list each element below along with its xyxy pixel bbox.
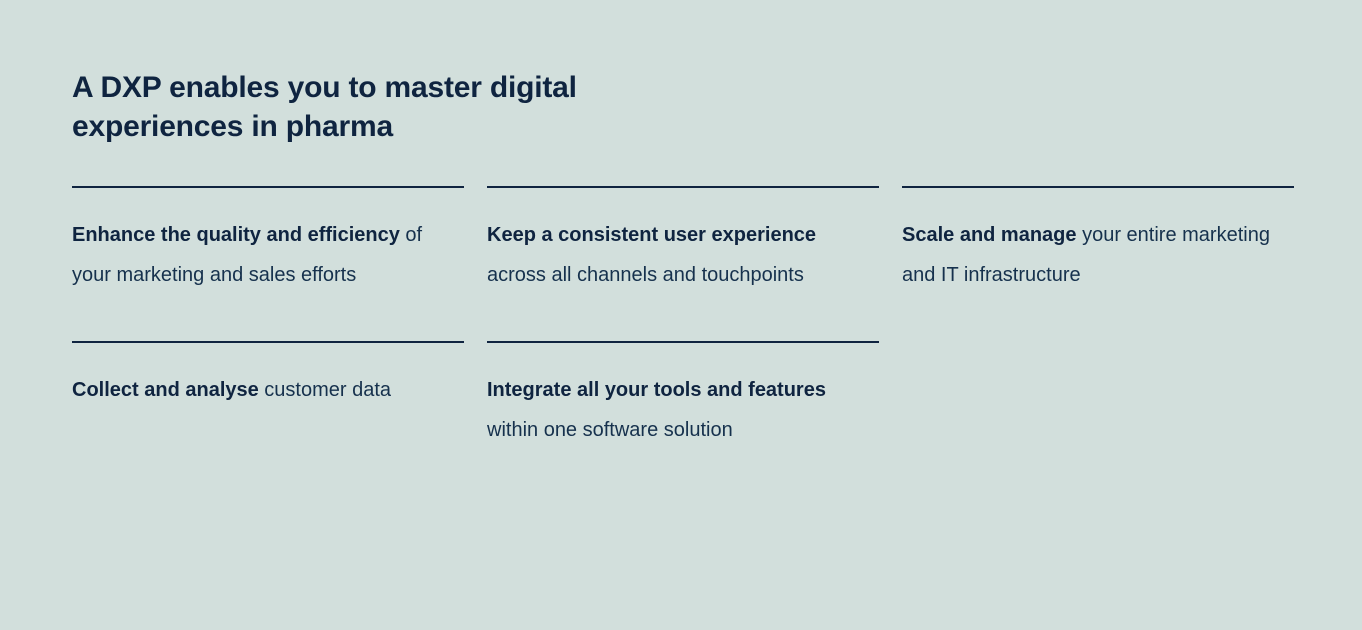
benefit-card-consistent-user-experience: Keep a consistent user experience across… <box>487 186 879 295</box>
benefit-lead: Keep a consistent user experience <box>487 224 816 246</box>
dxp-benefits-panel: A DXP enables you to master digital expe… <box>0 0 1362 630</box>
benefit-text: Collect and analyse customer data <box>72 343 464 410</box>
benefit-text <box>902 343 1294 370</box>
benefit-lead: Scale and manage <box>902 224 1077 246</box>
benefit-card-scale-and-manage: Scale and manage your entire marketing a… <box>902 186 1294 295</box>
benefit-text: Enhance the quality and efficiency of yo… <box>72 188 464 295</box>
benefit-lead: Enhance the quality and efficiency <box>72 224 400 246</box>
benefit-card-collect-and-analyse: Collect and analyse customer data <box>72 341 464 450</box>
benefit-lead: Collect and analyse <box>72 379 259 401</box>
benefit-lead: Integrate all your tools and features <box>487 379 826 401</box>
benefit-card-empty <box>902 341 1294 450</box>
benefit-rest: across all channels and touchpoints <box>487 264 804 286</box>
benefit-card-enhance-quality-efficiency: Enhance the quality and efficiency of yo… <box>72 186 464 295</box>
benefit-text: Integrate all your tools and features wi… <box>487 343 879 450</box>
benefit-card-integrate-tools-features: Integrate all your tools and features wi… <box>487 341 879 450</box>
benefits-grid: Enhance the quality and efficiency of yo… <box>72 186 1290 450</box>
benefit-text: Keep a consistent user experience across… <box>487 188 879 295</box>
benefit-rest: within one software solution <box>487 419 733 441</box>
benefit-text: Scale and manage your entire marketing a… <box>902 188 1294 295</box>
page-title: A DXP enables you to master digital expe… <box>72 0 712 146</box>
benefit-rest: customer data <box>259 379 391 401</box>
